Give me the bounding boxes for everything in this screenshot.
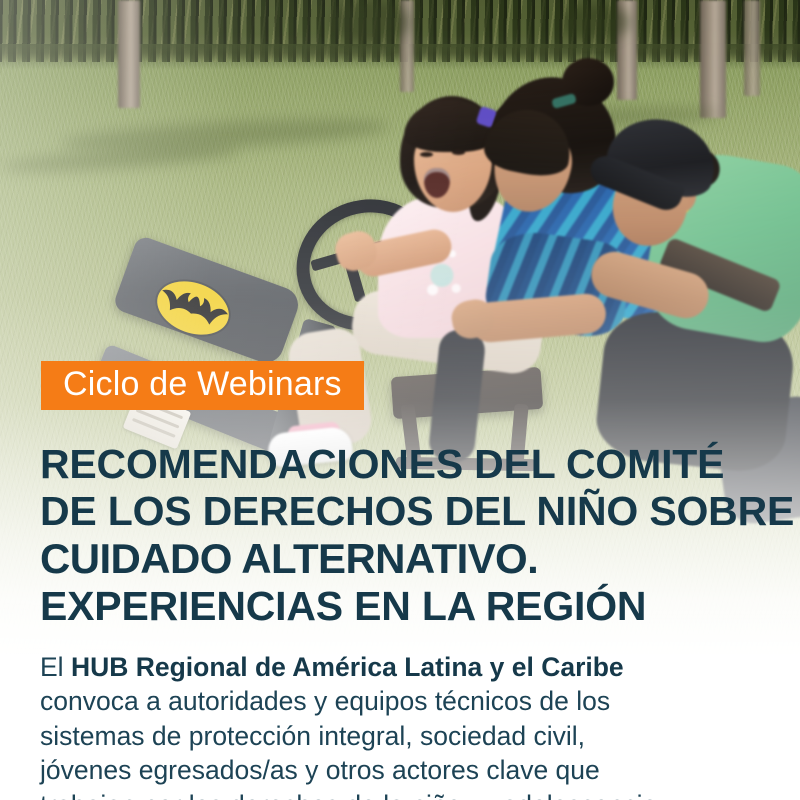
body-line-3: sistemas de protección integral, socieda… <box>40 719 780 753</box>
body-line-5: trabajan por los derechos de la niñez y … <box>40 788 780 800</box>
poster-content: Ciclo de Webinars RECOMENDACIONES DEL CO… <box>0 0 800 800</box>
body-lead-prefix: El <box>40 652 71 682</box>
title-line-2: DE LOS DERECHOS DEL NIÑO SOBRE <box>40 488 770 535</box>
series-badge: Ciclo de Webinars <box>41 361 364 410</box>
title-line-3: CUIDADO ALTERNATIVO. <box>40 535 770 583</box>
body-lead-line: El HUB Regional de América Latina y el C… <box>40 650 780 684</box>
webinar-poster: Ciclo de Webinars RECOMENDACIONES DEL CO… <box>0 0 800 800</box>
title-line-4: EXPERIENCIAS EN LA REGIÓN <box>40 583 770 630</box>
body-line-4: jóvenes egresados/as y otros actores cla… <box>40 753 780 787</box>
poster-title: RECOMENDACIONES DEL COMITÉ DE LOS DERECH… <box>40 441 770 630</box>
poster-body-copy: El HUB Regional de América Latina y el C… <box>40 650 780 800</box>
body-line-2: convoca a autoridades y equipos técnicos… <box>40 684 780 718</box>
title-line-1: RECOMENDACIONES DEL COMITÉ <box>40 441 770 488</box>
body-lead-bold: HUB Regional de América Latina y el Cari… <box>71 652 624 682</box>
